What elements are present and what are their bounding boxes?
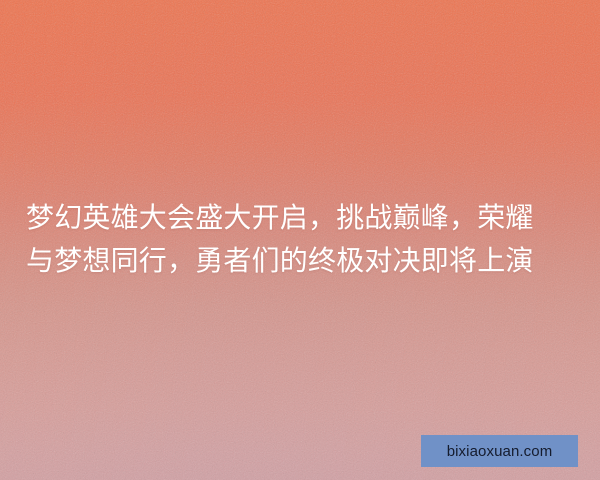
watermark-label: bixiaoxuan.com	[447, 444, 553, 459]
watermark-badge: bixiaoxuan.com	[421, 435, 578, 467]
headline-text: 梦幻英雄大会盛大开启，挑战巅峰，荣耀 与梦想同行，勇者们的终极对决即将上演	[26, 196, 580, 282]
poster-image: 梦幻英雄大会盛大开启，挑战巅峰，荣耀 与梦想同行，勇者们的终极对决即将上演 bi…	[0, 0, 600, 480]
